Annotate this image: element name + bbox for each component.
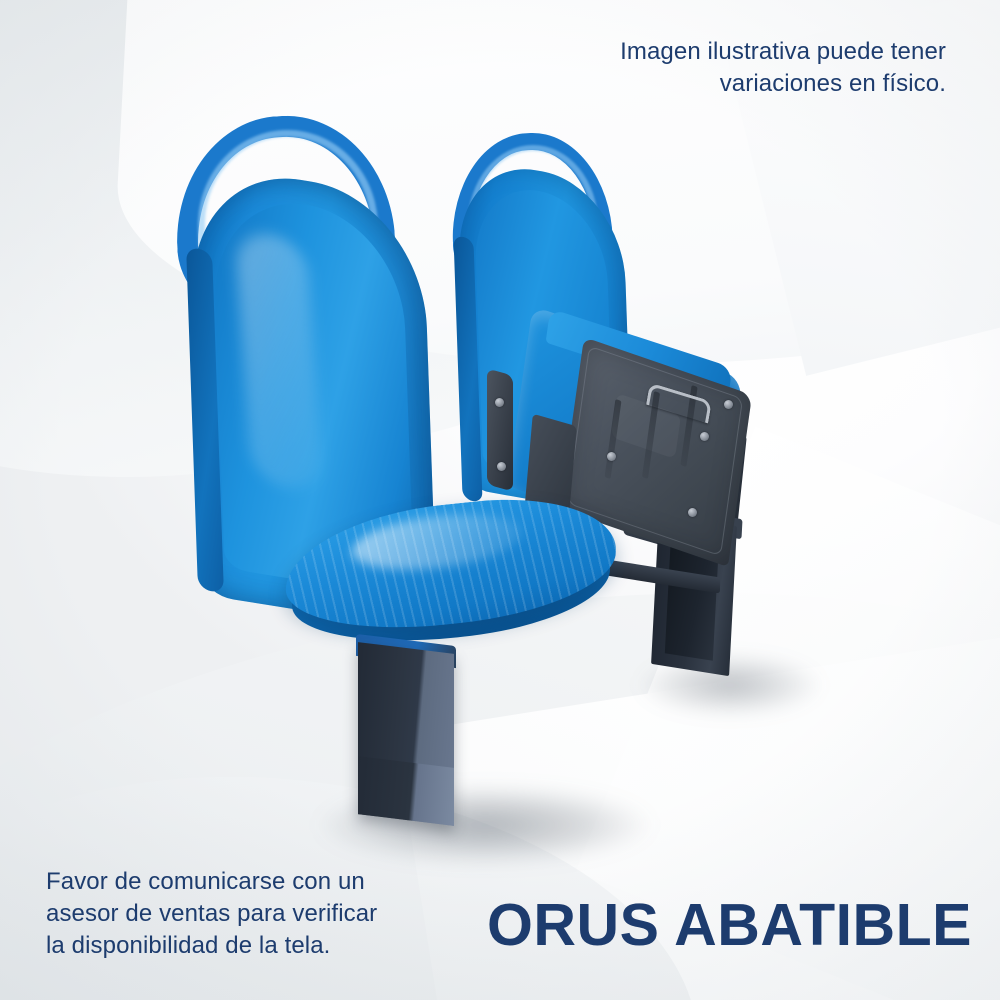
sales-advisor-note-line-2: asesor de ventas para verificar: [46, 898, 406, 930]
sales-advisor-note-line-3: la disponibilidad de la tela.: [46, 930, 406, 962]
product-poster: Imagen ilustrativa puede tener variacion…: [0, 0, 1000, 1000]
illustrative-image-note-line-2: variaciones en físico.: [526, 68, 946, 100]
illustrative-image-note-line-1: Imagen ilustrativa puede tener: [526, 36, 946, 68]
hinge-bracket-left: [487, 369, 513, 492]
bolt: [495, 398, 504, 407]
sales-advisor-note: Favor de comunicarse con un asesor de ve…: [46, 866, 406, 962]
floor-shadow-front: [250, 770, 720, 880]
bolt: [607, 452, 616, 461]
bolt: [724, 400, 733, 409]
pedestal-leg-foot: [358, 756, 454, 826]
bolt: [688, 508, 697, 517]
bolt: [700, 432, 709, 441]
product-title: ORUS ABATIBLE: [487, 896, 972, 955]
bolt: [497, 462, 506, 471]
sales-advisor-note-line-1: Favor de comunicarse con un: [46, 866, 406, 898]
product-photo: [0, 0, 1000, 1000]
illustrative-image-note: Imagen ilustrativa puede tener variacion…: [526, 36, 946, 99]
